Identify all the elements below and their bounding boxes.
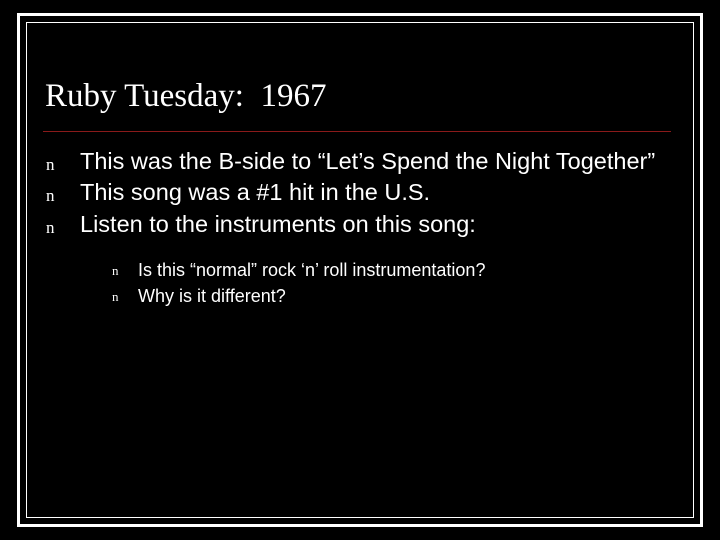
sub-bullet-text: Is this “normal” rock ‘n’ roll instrumen… bbox=[138, 257, 485, 283]
bullet-marker-icon: n bbox=[46, 177, 80, 204]
bullet-marker-icon: n bbox=[112, 283, 138, 303]
sub-bullet-list: n Is this “normal” rock ‘n’ roll instrum… bbox=[112, 257, 676, 309]
list-item: n Is this “normal” rock ‘n’ roll instrum… bbox=[112, 257, 676, 283]
list-item: n This song was a #1 hit in the U.S. bbox=[46, 177, 676, 208]
bullet-text: This was the B-side to “Let’s Spend the … bbox=[80, 146, 655, 177]
bullet-marker-icon: n bbox=[112, 257, 138, 277]
list-item: n Listen to the instruments on this song… bbox=[46, 209, 676, 240]
slide-title: Ruby Tuesday: 1967 bbox=[45, 78, 326, 115]
bullet-marker-icon: n bbox=[46, 146, 80, 173]
bullet-list: n This was the B-side to “Let’s Spend th… bbox=[46, 146, 676, 309]
sub-bullet-text: Why is it different? bbox=[138, 283, 286, 309]
bullet-text: This song was a #1 hit in the U.S. bbox=[80, 177, 430, 208]
title-divider bbox=[43, 131, 671, 132]
slide-content: Ruby Tuesday: 1967 n This was the B-side… bbox=[40, 36, 680, 504]
list-item: n Why is it different? bbox=[112, 283, 676, 309]
list-item: n This was the B-side to “Let’s Spend th… bbox=[46, 146, 676, 177]
slide: Ruby Tuesday: 1967 n This was the B-side… bbox=[0, 0, 720, 540]
bullet-text: Listen to the instruments on this song: bbox=[80, 209, 476, 240]
bullet-marker-icon: n bbox=[46, 209, 80, 236]
